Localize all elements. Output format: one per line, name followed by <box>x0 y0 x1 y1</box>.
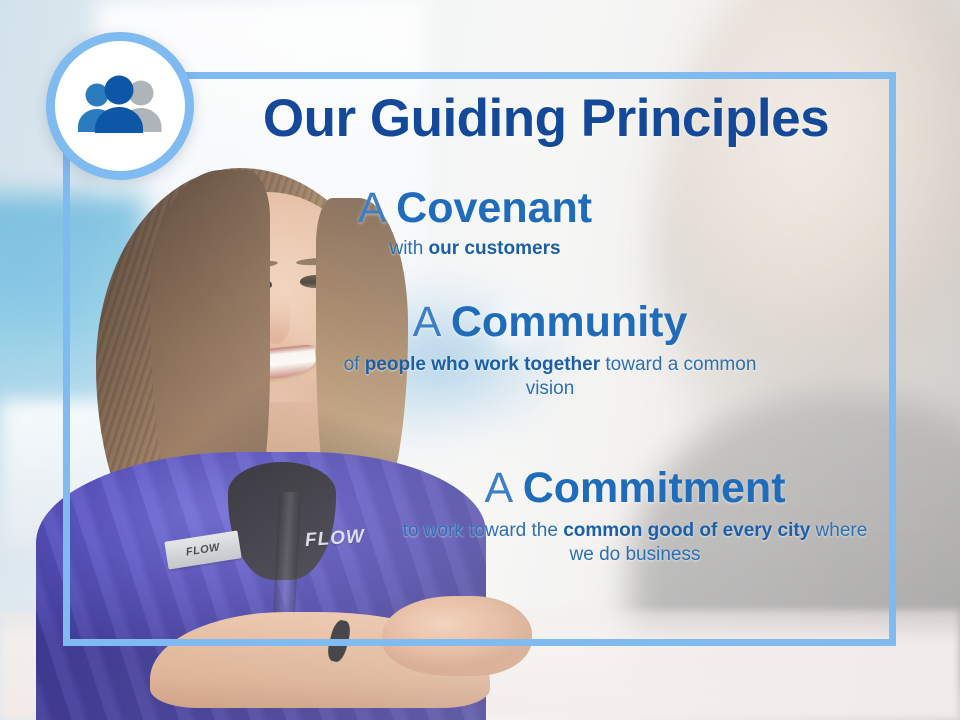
commitment-sub-bold-2: good of every city <box>648 520 811 541</box>
principle-commitment-lead: A <box>484 464 522 512</box>
principle-covenant-lead: A <box>358 184 396 232</box>
principle-commitment-subtext: to work toward the common good of every … <box>400 519 870 568</box>
poster-text-content: Our Guiding Principles A Covenant with o… <box>0 0 960 720</box>
principle-community-heading: A Community <box>330 300 770 345</box>
covenant-sub-bold-1: our customers <box>429 238 561 259</box>
principle-community-lead: A <box>413 298 451 346</box>
principle-covenant: A Covenant with our customers <box>260 186 690 261</box>
principle-covenant-subtext: with our customers <box>260 237 690 262</box>
principle-commitment-heading: A Commitment <box>400 466 870 511</box>
principle-community-keyword: Community <box>451 298 688 346</box>
principle-covenant-keyword: Covenant <box>396 184 592 232</box>
principle-covenant-heading: A Covenant <box>260 186 690 231</box>
principle-commitment: A Commitment to work toward the common g… <box>400 466 870 568</box>
principle-commitment-keyword: Commitment <box>523 464 786 512</box>
principle-community: A Community of people who work together … <box>330 300 770 402</box>
community-sub-plain-1: of <box>344 354 365 375</box>
commitment-sub-bold-1: common <box>563 520 642 541</box>
principle-community-subtext: of people who work together toward a com… <box>330 353 770 402</box>
covenant-sub-plain-1: with <box>389 238 428 259</box>
community-sub-bold-1: people who work together <box>365 354 600 375</box>
commitment-sub-plain-1: to work toward the <box>403 520 564 541</box>
guiding-principles-poster: FLOW FLOW Our Guiding Principles <box>0 0 960 720</box>
page-title: Our Guiding Principles <box>216 92 876 146</box>
